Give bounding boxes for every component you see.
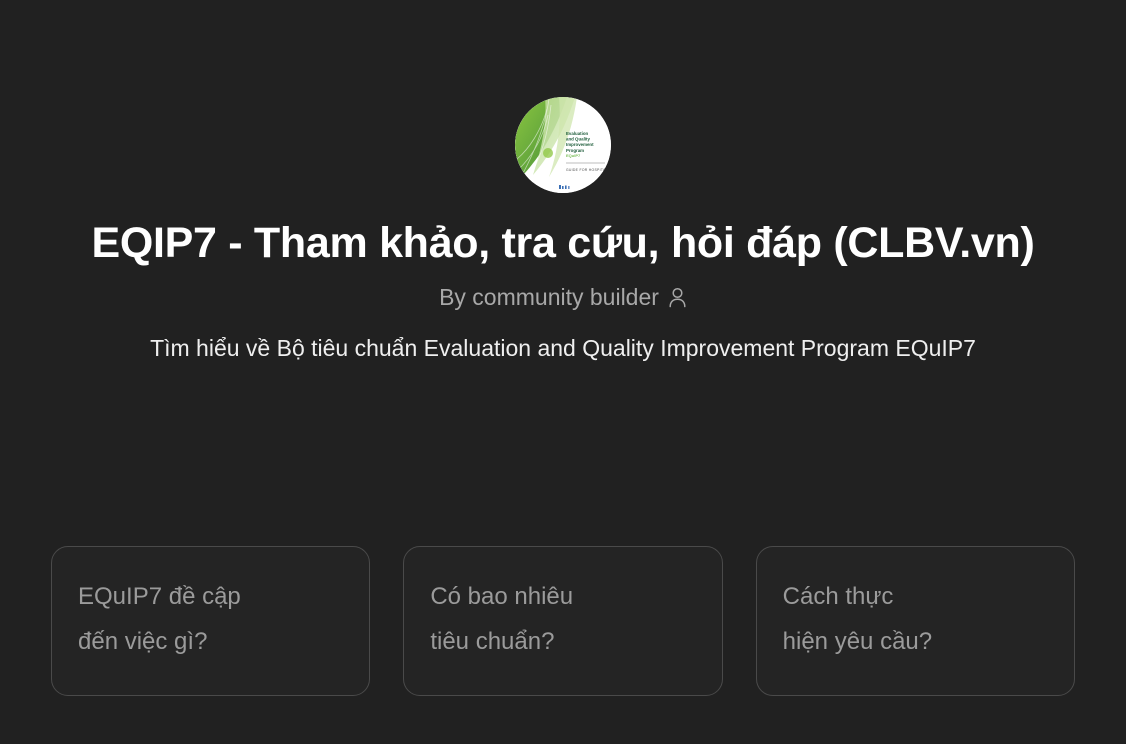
suggestion-card-1-text: EQuIP7 đề cập đến việc gì? (78, 574, 343, 664)
byline: By community builder (439, 286, 687, 309)
svg-text:GUIDE FOR HOSPITALS: GUIDE FOR HOSPITALS (566, 168, 611, 172)
byline-label: By community builder (439, 286, 659, 309)
svg-text:EQuIP7: EQuIP7 (566, 153, 581, 158)
svg-text:Improvement: Improvement (566, 142, 594, 147)
suggestion-card-2[interactable]: Có bao nhiêu tiêu chuẩn? (403, 546, 722, 696)
svg-text:Evaluation: Evaluation (566, 131, 589, 136)
suggestion-cards: EQuIP7 đề cập đến việc gì? Có bao nhiêu … (51, 546, 1075, 696)
logo-circle: Evaluation and Quality Improvement Progr… (515, 97, 611, 193)
suggestion-card-3-text: Cách thực hiện yêu cầu? (783, 574, 1048, 664)
page-description: Tìm hiểu về Bộ tiêu chuẩn Evaluation and… (148, 328, 978, 368)
equip7-cover-icon: Evaluation and Quality Improvement Progr… (515, 97, 611, 193)
suggestion-card-2-text: Có bao nhiêu tiêu chuẩn? (430, 574, 695, 664)
app-logo: Evaluation and Quality Improvement Progr… (515, 97, 611, 193)
page-title: EQIP7 - Tham khảo, tra cứu, hỏi đáp (CLB… (91, 219, 1034, 268)
person-icon (668, 287, 687, 308)
svg-text:and Quality: and Quality (566, 137, 590, 142)
suggestion-card-3[interactable]: Cách thực hiện yêu cầu? (756, 546, 1075, 696)
suggestion-card-1[interactable]: EQuIP7 đề cập đến việc gì? (51, 546, 370, 696)
